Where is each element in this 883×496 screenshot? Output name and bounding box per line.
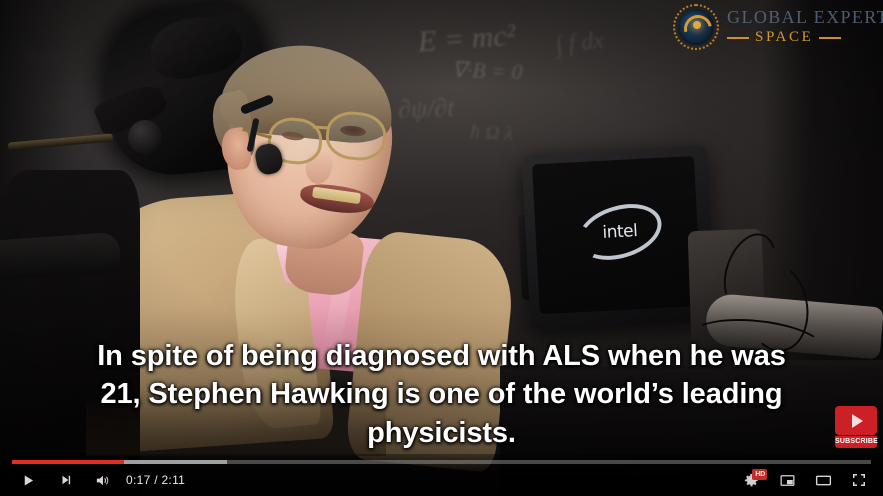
- play-icon: [21, 473, 36, 488]
- subscribe-label: SUBSCRIBE: [835, 436, 877, 448]
- quality-badge: HD: [752, 469, 767, 480]
- brand-name: GLOBAL EXPERT: [727, 8, 883, 27]
- miniplayer-button[interactable]: [769, 464, 805, 496]
- miniplayer-icon: [778, 471, 797, 490]
- brand-rule-right: [819, 37, 841, 39]
- theater-mode-button[interactable]: [805, 464, 841, 496]
- next-video-button[interactable]: [48, 464, 84, 496]
- crescent-orbit-emblem-icon: [673, 4, 719, 50]
- brand-rule-left: [727, 37, 749, 39]
- volume-button[interactable]: [84, 464, 120, 496]
- fullscreen-button[interactable]: [841, 464, 877, 496]
- player-control-bar[interactable]: 0:17 / 2:11 HD: [0, 454, 883, 496]
- intel-logo-icon: intel: [576, 204, 665, 260]
- wheelchair-arm-left: [0, 232, 121, 280]
- headrest-knob: [128, 120, 162, 154]
- youtube-play-icon: [835, 406, 877, 435]
- settings-button[interactable]: HD: [733, 464, 769, 496]
- next-track-icon: [59, 473, 73, 487]
- channel-watermark-logo[interactable]: GLOBAL EXPERT SPACE: [673, 4, 883, 50]
- play-button[interactable]: [0, 464, 48, 496]
- teeth: [312, 187, 361, 205]
- fullscreen-icon: [850, 471, 868, 489]
- time-display: 0:17 / 2:11: [120, 473, 193, 487]
- theater-mode-icon: [814, 471, 833, 490]
- volume-high-icon: [94, 472, 111, 489]
- brand-subtitle: SPACE: [755, 30, 813, 46]
- video-frame[interactable]: E = mc² ∇·B = 0 ∂ψ/∂t ħ Ω λ ∫ f dx Rμν α…: [0, 0, 883, 496]
- subscribe-watermark-button[interactable]: SUBSCRIBE: [835, 406, 877, 448]
- control-buttons-row: 0:17 / 2:11 HD: [0, 464, 883, 496]
- foreground-shadow: [86, 386, 386, 456]
- monitor-screen: intel: [532, 156, 702, 314]
- intel-wordmark: intel: [602, 221, 638, 243]
- video-player[interactable]: E = mc² ∇·B = 0 ∂ψ/∂t ħ Ω λ ∫ f dx Rμν α…: [0, 0, 883, 496]
